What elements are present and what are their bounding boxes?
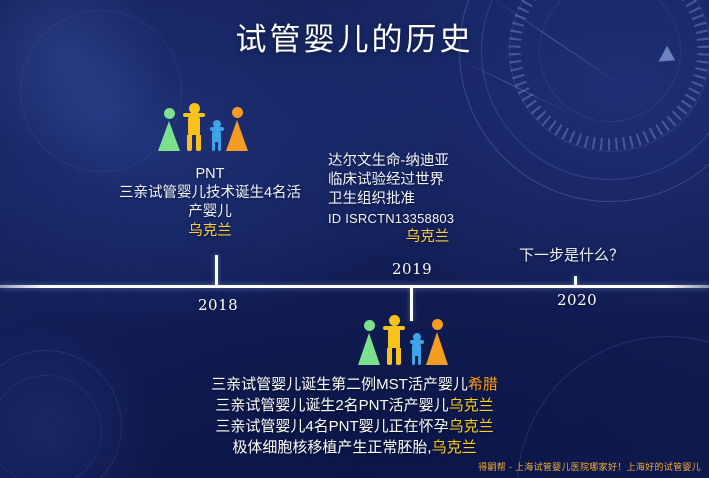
timeline-year-2019: 2019 xyxy=(392,260,432,278)
left-line-1: PNT xyxy=(90,165,330,184)
bottom-row-4-country: 乌克兰 xyxy=(432,439,477,456)
bottom-row-1-text: 三亲试管婴儿诞生第二例MST活产婴儿 xyxy=(211,376,468,393)
next-step-question: 下一步是什么？ xyxy=(519,244,624,265)
middle-line-2: 临床试验经过世界 xyxy=(328,171,513,190)
left-text-block: PNT 三亲试管婴儿技术诞生4名活 产婴儿 乌克兰 xyxy=(90,165,330,241)
bottom-row-1: 三亲试管婴儿诞生第二例MST活产婴儿希腊 xyxy=(0,374,709,395)
female-figure-icon-b2 xyxy=(426,319,448,365)
middle-line-1: 达尔文生命-纳迪亚 xyxy=(328,152,513,171)
timeline-year-2018: 2018 xyxy=(198,296,238,314)
timeline-year-2020: 2020 xyxy=(557,291,597,309)
female-figure-icon-b1 xyxy=(358,320,380,365)
middle-line-3: 卫生组织批准 xyxy=(328,190,513,209)
bottom-text-block: 三亲试管婴儿诞生第二例MST活产婴儿希腊 三亲试管婴儿诞生2名PNT活产婴儿乌克… xyxy=(0,374,709,458)
timeline-tick-2018 xyxy=(215,255,218,287)
page-title: 试管婴儿的历史 xyxy=(0,14,709,59)
female-figure-icon-2 xyxy=(226,107,248,151)
child-figure-icon xyxy=(208,120,225,151)
bottom-row-4-text: 极体细胞核移植产生正常胚胎, xyxy=(232,439,431,456)
family-icon-top xyxy=(158,103,248,151)
female-figure-icon xyxy=(158,108,180,151)
child-figure-icon-b xyxy=(408,333,425,365)
bottom-row-1-country: 希腊 xyxy=(468,376,498,393)
bottom-row-4: 极体细胞核移植产生正常胚胎,乌克兰 xyxy=(0,437,709,458)
middle-trial-id: ID ISRCTN13358803 xyxy=(328,209,513,228)
timeline-axis xyxy=(0,285,709,288)
bottom-row-3-text: 三亲试管婴儿4名PNT婴儿正在怀孕 xyxy=(215,418,448,435)
middle-country: 乌克兰 xyxy=(328,228,513,247)
bottom-row-2-text: 三亲试管婴儿诞生2名PNT活产婴儿 xyxy=(215,397,448,414)
family-icon-bottom xyxy=(358,315,448,365)
left-line-3: 产婴儿 xyxy=(90,203,330,222)
light-streak-icon-2 xyxy=(461,60,569,114)
left-line-2: 三亲试管婴儿技术诞生4名活 xyxy=(90,184,330,203)
slide-canvas: 试管婴儿的历史 PNT 三亲试管婴儿技术诞生4名活 产婴儿 xyxy=(0,0,709,478)
bottom-row-2-country: 乌克兰 xyxy=(449,397,494,414)
left-country: 乌克兰 xyxy=(90,222,330,241)
bottom-row-3: 三亲试管婴儿4名PNT婴儿正在怀孕乌克兰 xyxy=(0,416,709,437)
bottom-row-2: 三亲试管婴儿诞生2名PNT活产婴儿乌克兰 xyxy=(0,395,709,416)
watermark-text: 得嗣帮 - 上海试管婴儿医院哪家好！上海好的试管婴儿 xyxy=(478,460,701,473)
male-figure-icon-b xyxy=(381,315,407,365)
bottom-row-3-country: 乌克兰 xyxy=(449,418,494,435)
male-figure-icon xyxy=(181,103,207,151)
timeline-tick-2020 xyxy=(574,276,577,287)
middle-text-block: 达尔文生命-纳迪亚 临床试验经过世界 卫生组织批准 ID ISRCTN13358… xyxy=(328,152,513,247)
